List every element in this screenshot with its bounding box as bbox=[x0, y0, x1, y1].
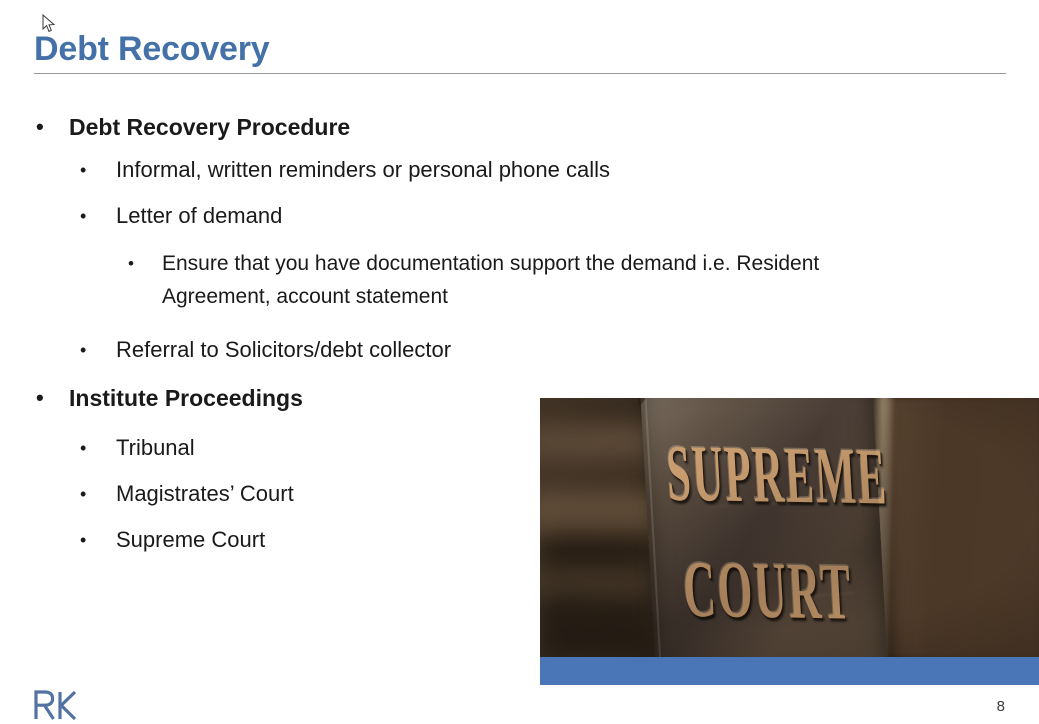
photo-background-streak bbox=[540, 568, 650, 598]
bullet-glyph-icon: • bbox=[80, 335, 116, 365]
bullet-item-level2: • Informal, written reminders or persona… bbox=[80, 155, 1039, 185]
bullet-text: Referral to Solicitors/debt collector bbox=[116, 335, 451, 365]
bullet-text: Letter of demand bbox=[116, 201, 282, 231]
bullet-glyph-icon: • bbox=[80, 525, 116, 555]
bullet-glyph-icon: • bbox=[80, 433, 116, 463]
rk-logo-icon bbox=[33, 689, 79, 721]
bullet-glyph-icon: • bbox=[36, 383, 69, 413]
bullet-text: Informal, written reminders or personal … bbox=[116, 155, 610, 185]
supreme-court-image: SUPREME COURT bbox=[540, 398, 1039, 685]
bullet-glyph-icon: • bbox=[36, 112, 69, 142]
bullet-glyph-icon: • bbox=[128, 247, 162, 280]
bullet-item-level1: • Debt Recovery Procedure bbox=[36, 112, 1039, 142]
page-title: Debt Recovery bbox=[34, 30, 270, 69]
photo-door-panel bbox=[874, 398, 1039, 657]
bullet-glyph-icon: • bbox=[80, 155, 116, 185]
bullet-item-level3: • Ensure that you have documentation sup… bbox=[128, 247, 828, 313]
bullet-item-level2: • Letter of demand bbox=[80, 201, 1039, 231]
slide: Debt Recovery • Debt Recovery Procedure … bbox=[0, 0, 1039, 724]
bronze-plaque: SUPREME COURT bbox=[639, 398, 888, 657]
bullet-text: Ensure that you have documentation suppo… bbox=[162, 247, 828, 313]
bullet-text: Supreme Court bbox=[116, 525, 265, 555]
bullet-item-level2: • Referral to Solicitors/debt collector bbox=[80, 335, 1039, 365]
bullet-glyph-icon: • bbox=[80, 479, 116, 509]
bullet-text: Tribunal bbox=[116, 433, 195, 463]
bullet-text: Magistrates’ Court bbox=[116, 479, 294, 509]
page-number: 8 bbox=[997, 698, 1005, 715]
plaque-sheen bbox=[639, 398, 888, 657]
bullet-text: Debt Recovery Procedure bbox=[69, 112, 350, 142]
bullet-text: Institute Proceedings bbox=[69, 383, 303, 413]
picture-accent-bar bbox=[540, 657, 1039, 685]
photo-canvas: SUPREME COURT bbox=[540, 398, 1039, 657]
title-divider bbox=[34, 73, 1006, 74]
bullet-glyph-icon: • bbox=[80, 201, 116, 231]
